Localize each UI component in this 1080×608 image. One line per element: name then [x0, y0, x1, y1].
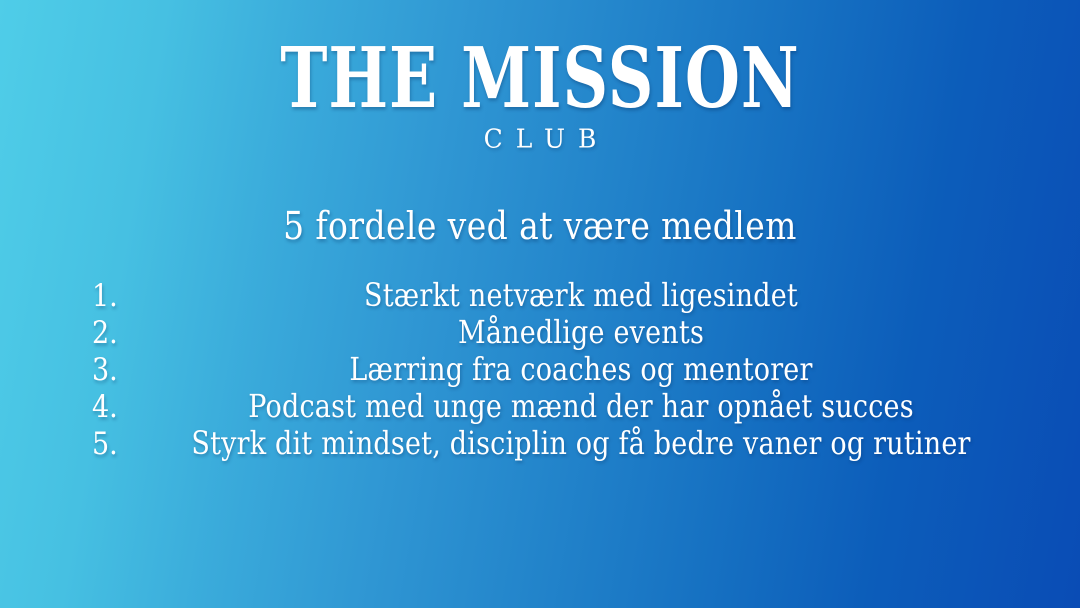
benefits-list: 1. Stærkt netværk med ligesindet 2. Måne… [0, 283, 1080, 468]
list-item-number: 3. [92, 353, 170, 388]
list-item-number: 2. [92, 316, 170, 351]
slide-canvas: { "theme": { "gradient_start": "#4fcde8"… [0, 0, 1080, 608]
list-item-number: 1. [92, 279, 170, 314]
list-item-label: Styrk dit mindset, disciplin og få bedre… [170, 426, 1080, 462]
list-item-label: Stærkt netværk med ligesindet [170, 278, 1080, 314]
logo-subtitle: CLUB [0, 123, 1080, 153]
list-item-label: Lærring fra coaches og mentorer [170, 352, 1080, 388]
brand-logo: THE MISSION CLUB [0, 40, 1080, 153]
list-item: 5. Styrk dit mindset, disciplin og få be… [0, 431, 1080, 468]
list-item-label: Månedlige events [170, 315, 1080, 351]
slide-headline: 5 fordele ved at være medlem [0, 203, 1080, 248]
list-item-number: 5. [92, 427, 170, 462]
list-item-number: 4. [92, 390, 170, 425]
list-item-label: Podcast med unge mænd der har opnået suc… [170, 389, 1080, 425]
logo-wordmark: THE MISSION [38, 40, 1042, 119]
